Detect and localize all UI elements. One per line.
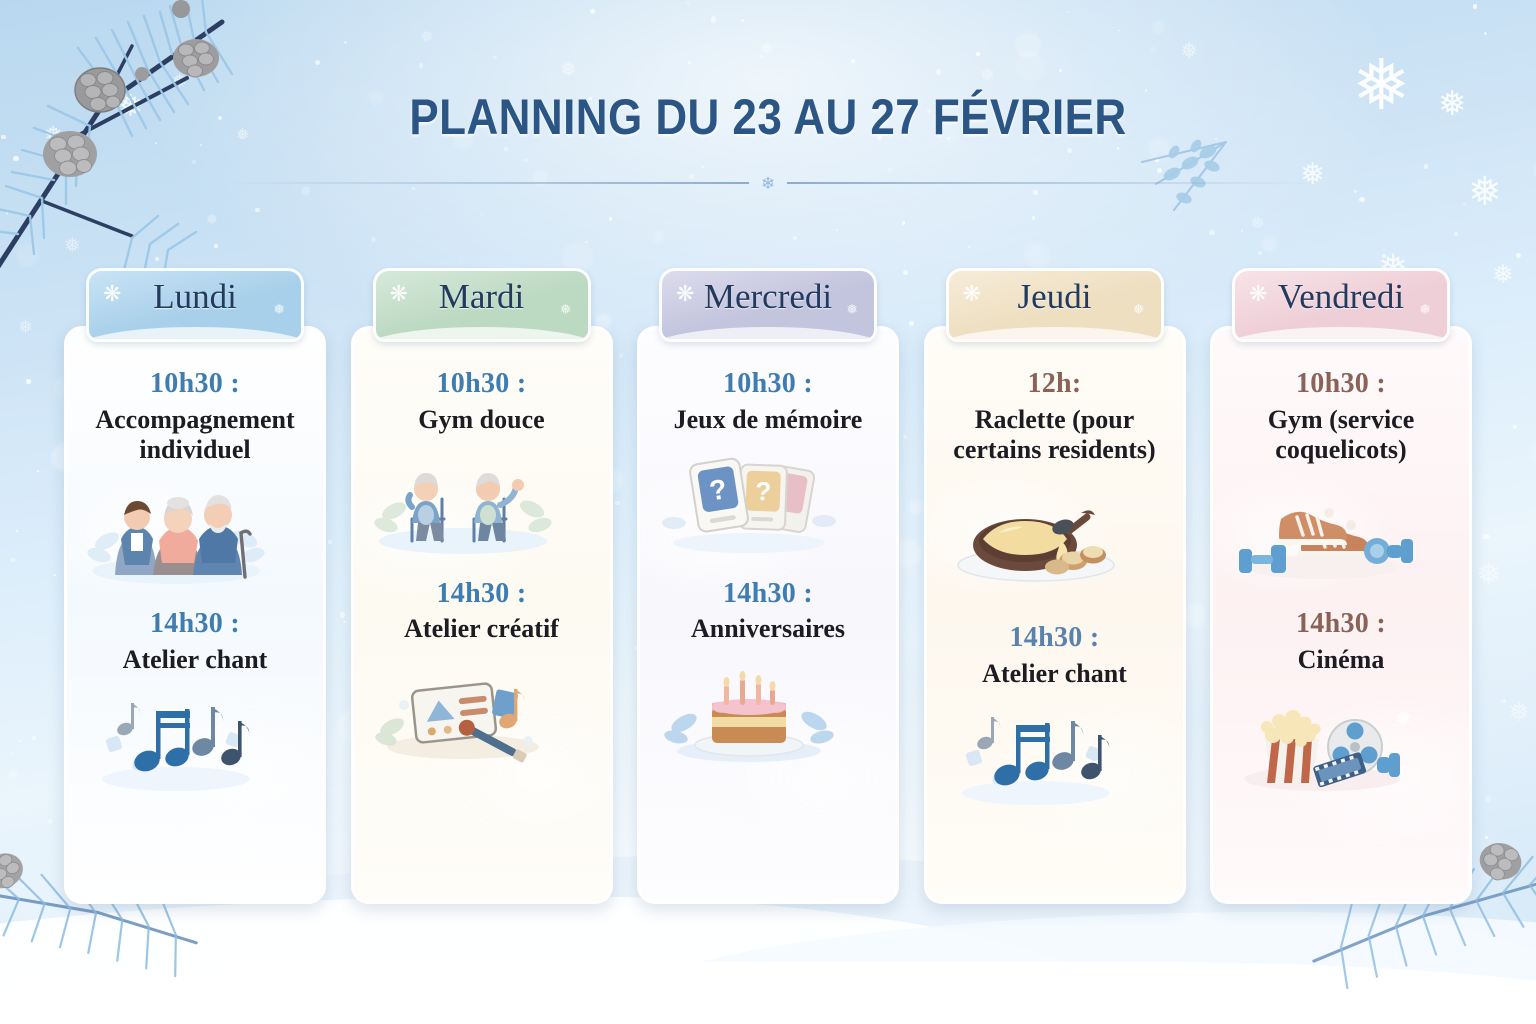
snow-speck (524, 158, 528, 162)
day-card-mardi: 10h30 :Gym douce (351, 326, 613, 904)
music-notes-illustration (941, 699, 1169, 809)
schedule-slot[interactable]: 10h30 :Accompagnement individuel (81, 367, 309, 585)
snowflake-icon: ❅ (1468, 172, 1502, 212)
slot-activity: Raclette (pour certains residents) (941, 405, 1169, 465)
day-tab-mercredi[interactable]: ❋❅Mercredi (659, 268, 877, 342)
snow-speck (1118, 30, 1120, 32)
day-name: Vendredi (1278, 277, 1404, 317)
snow-speck (1059, 69, 1062, 72)
snowflake-icon: ❅ (206, 214, 218, 228)
snowflake-small-icon: ❅ (1419, 302, 1431, 319)
memory-game-cards-illustration: ? ? (654, 445, 882, 555)
divider-line-left (223, 182, 749, 184)
bokeh-dot (1150, 47, 1157, 54)
snow-speck (1067, 148, 1072, 153)
snow-speck (1117, 147, 1119, 149)
snow-speck (32, 736, 36, 740)
title-divider: ❄ (223, 174, 1313, 192)
snow-speck (1463, 203, 1467, 207)
slot-time: 14h30 : (81, 607, 309, 641)
day-tab-mardi[interactable]: ❋❅Mardi (373, 268, 591, 342)
page-title: PLANNING DU 23 AU 27 FÉVRIER (92, 88, 1444, 146)
snow-speck (590, 9, 595, 14)
snowflake-small-icon: ❅ (273, 302, 285, 319)
slot-gap (1227, 585, 1455, 607)
slot-activity: Jeux de mémoire (654, 405, 882, 435)
snowflake-icon: ❅ (1250, 214, 1265, 232)
snow-speck (54, 574, 56, 576)
schedule-slot[interactable]: 14h30 :Atelier créatif (368, 577, 596, 765)
day-card-mercredi: 10h30 :Jeux de mémoire ? ? 14h30 :Annive… (637, 326, 899, 904)
snow-speck (1484, 32, 1487, 35)
raclette-pan-with-cheese-illustration (941, 475, 1169, 585)
slot-time: 10h30 : (368, 367, 596, 401)
slot-activity: Gym douce (368, 405, 596, 435)
snow-speck (687, 2, 689, 4)
schedule-slot[interactable]: 10h30 :Gym (service coquelicots) (1227, 367, 1455, 585)
bokeh-dot (1262, 236, 1278, 252)
snow-speck (315, 60, 320, 65)
snow-speck (10, 558, 15, 563)
snowflake-icon: ❅ (420, 30, 433, 46)
snow-speck (344, 41, 347, 44)
snow-speck (22, 884, 25, 887)
bokeh-dot (1015, 51, 1045, 81)
snow-speck (968, 246, 970, 248)
snow-speck (45, 187, 49, 191)
day-card-lundi: 10h30 :Accompagnement individuel (64, 326, 326, 904)
snow-speck (1483, 534, 1488, 539)
tab-snow-edge (946, 327, 1164, 342)
snow-drift-front (0, 962, 1536, 1024)
snow-speck (1516, 253, 1521, 258)
snow-speck (192, 160, 196, 164)
bokeh-dot (16, 244, 39, 267)
snow-speck (609, 217, 613, 221)
day-tab-jeudi[interactable]: ❋❅Jeudi (946, 268, 1164, 342)
schedule-slot[interactable]: 14h30 :Anniversaires (654, 577, 882, 765)
snow-speck (214, 244, 218, 248)
sneakers-and-dumbbells-illustration (1227, 475, 1455, 585)
slot-activity: Atelier créatif (368, 614, 596, 644)
day-tab-vendredi[interactable]: ❋❅Vendredi (1232, 268, 1450, 342)
schedule-slot[interactable]: 12h:Raclette (pour certains residents) (941, 367, 1169, 585)
snow-speck (1157, 168, 1162, 173)
tab-snow-edge (659, 327, 877, 342)
popcorn-and-film-reel-illustration: ❅ (1227, 685, 1455, 795)
day-column-mercredi: ❋❅Mercredi10h30 :Jeux de mémoire ? ? 14h… (637, 268, 899, 904)
snow-speck (481, 214, 483, 216)
snow-speck (255, 208, 259, 212)
snow-speck (1495, 531, 1497, 533)
tab-snow-edge (86, 327, 304, 342)
slot-activity: Atelier chant (941, 659, 1169, 689)
snow-speck (976, 52, 980, 56)
snow-speck (977, 20, 979, 22)
music-notes-illustration (81, 685, 309, 795)
poster-title-wrap: PLANNING DU 23 AU 27 FÉVRIER (0, 88, 1536, 146)
snow-speck (13, 156, 18, 161)
slot-gap (941, 585, 1169, 621)
snow-speck (1454, 232, 1459, 237)
bokeh-dot (653, 231, 664, 242)
snowflake-icon: ❅ (1180, 40, 1198, 62)
bokeh-dot (9, 771, 17, 779)
day-name: Mercredi (704, 277, 832, 317)
slot-activity: Anniversaires (654, 614, 882, 644)
snowflake-icon: ❋ (963, 281, 981, 307)
day-name: Lundi (153, 277, 237, 317)
craft-board-and-brush-illustration (368, 655, 596, 765)
week-columns: ❋❅Lundi10h30 :Accompagnement individuel (64, 268, 1472, 904)
tab-snow-edge (1232, 327, 1450, 342)
snow-speck (1485, 836, 1488, 839)
snow-speck (1155, 159, 1158, 162)
divider-line-right (787, 182, 1313, 184)
slot-activity: Gym (service coquelicots) (1227, 405, 1455, 465)
snowflake-icon: ❋ (1249, 281, 1267, 307)
birthday-cake-illustration (654, 655, 882, 765)
winter-schedule-poster: ❅❅❅❅❅❅❅❅❅❅❅❅❅❅❅❅❅❅❅❅❅❅❅❅ (0, 0, 1536, 1024)
caregiver-with-elderly-couple-illustration (81, 475, 309, 585)
snow-speck (1032, 216, 1035, 219)
snow-speck (37, 470, 39, 472)
snow-speck (26, 379, 30, 383)
snowflake-icon: ❋ (676, 281, 694, 307)
snowflake-icon: ❅ (1476, 560, 1501, 590)
schedule-slot[interactable]: 14h30 :Atelier chant (941, 621, 1169, 809)
slot-time: 14h30 : (1227, 607, 1455, 641)
bokeh-dot (1530, 439, 1536, 466)
snow-speck (1513, 425, 1517, 429)
snow-speck (1067, 11, 1069, 13)
slot-time: 14h30 : (368, 577, 596, 611)
day-column-jeudi: ❋❅Jeudi12h:Raclette (pour certains resid… (924, 268, 1186, 904)
bokeh-dot (458, 256, 465, 263)
snowflake-icon: ❅ (760, 42, 773, 58)
day-column-lundi: ❋❅Lundi10h30 :Accompagnement individuel (64, 268, 326, 904)
snow-speck (836, 229, 838, 231)
schedule-slot[interactable]: 14h30 :Cinéma (1227, 607, 1455, 795)
day-name: Mardi (439, 277, 525, 317)
snowflake-icon: ❋ (103, 281, 121, 307)
svg-text:❅: ❅ (1395, 708, 1412, 730)
snow-speck (493, 56, 496, 59)
slot-activity: Cinéma (1227, 645, 1455, 675)
snowflake-small-icon: ❅ (846, 302, 858, 319)
snowflake-icon: ❅ (64, 236, 81, 256)
slot-activity: Atelier chant (81, 645, 309, 675)
snow-speck (741, 19, 744, 22)
day-name: Jeudi (1018, 277, 1092, 317)
snowflake-small-icon: ❅ (560, 302, 572, 319)
slot-time: 10h30 : (1227, 367, 1455, 401)
day-tab-lundi[interactable]: ❋❅Lundi (86, 268, 304, 342)
snow-speck (155, 257, 159, 261)
snow-speck (851, 59, 855, 63)
slot-gap (368, 555, 596, 577)
slot-time: 12h: (941, 367, 1169, 401)
schedule-slot[interactable]: 10h30 :Gym douce (368, 367, 596, 555)
day-card-jeudi: 12h:Raclette (pour certains residents) 1… (924, 326, 1186, 904)
snow-speck (1209, 230, 1214, 235)
snow-speck (888, 167, 892, 171)
snowflake-icon: ❅ (1508, 700, 1530, 726)
svg-text:?: ? (755, 476, 772, 507)
snowflake-small-icon: ❅ (1133, 302, 1145, 319)
snow-speck (1511, 525, 1513, 527)
snowflake-icon: ❅ (560, 60, 577, 80)
day-column-mardi: ❋❅Mardi10h30 :Gym douce (351, 268, 613, 904)
bokeh-dot (1152, 21, 1165, 34)
snow-speck (1485, 796, 1490, 801)
day-card-vendredi: 10h30 :Gym (service coquelicots) (1210, 326, 1472, 904)
snow-speck (1424, 164, 1428, 168)
schedule-slot[interactable]: 10h30 :Jeux de mémoire ? ? (654, 367, 882, 555)
snow-speck (702, 166, 704, 168)
tab-snow-edge (373, 327, 591, 342)
snow-speck (902, 221, 906, 225)
snowflake-icon: ❅ (980, 66, 995, 84)
snowflake-icon: ❅ (18, 318, 33, 336)
snow-speck (1241, 230, 1243, 232)
snow-speck (688, 61, 691, 64)
snow-speck (504, 147, 508, 151)
snowflake-icon: ❋ (390, 281, 408, 307)
snow-speck (48, 819, 52, 823)
snow-speck (1359, 197, 1364, 202)
schedule-slot[interactable]: 14h30 :Atelier chant (81, 607, 309, 795)
slot-time: 14h30 : (654, 577, 882, 611)
slot-gap (81, 585, 309, 607)
snow-speck (10, 752, 13, 755)
snow-speck (936, 69, 941, 74)
snowflake-icon: ❅ (1492, 262, 1514, 288)
day-column-vendredi: ❋❅Vendredi10h30 :Gym (service coquelicot… (1210, 268, 1472, 904)
snow-speck (19, 740, 21, 742)
snow-speck (793, 236, 797, 240)
snow-speck (419, 63, 423, 67)
snow-speck (371, 237, 376, 242)
snow-speck (585, 241, 587, 243)
seated-seniors-exercising-illustration (368, 445, 596, 555)
snow-speck (1501, 699, 1505, 703)
snow-speck (16, 530, 18, 532)
snow-speck (6, 212, 8, 214)
slot-time: 10h30 : (654, 367, 882, 401)
slot-gap (654, 555, 882, 577)
slot-activity: Accompagnement individuel (81, 405, 309, 465)
snowflake-ornament-icon: ❄ (761, 175, 775, 192)
snow-speck (1354, 190, 1358, 194)
snow-speck (1258, 251, 1262, 255)
bokeh-dot (1024, 243, 1050, 269)
snow-speck (1473, 4, 1477, 8)
slot-time: 10h30 : (81, 367, 309, 401)
slot-time: 14h30 : (941, 621, 1169, 655)
